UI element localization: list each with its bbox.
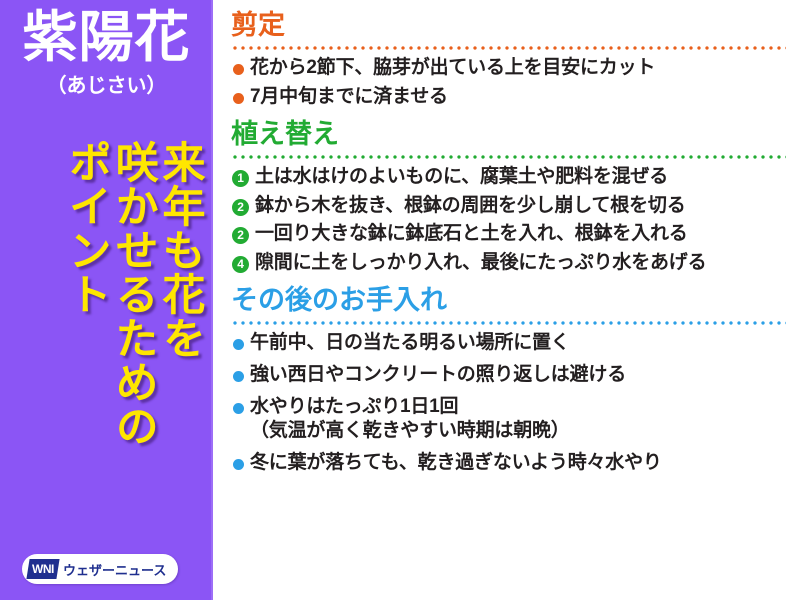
list-item: 4 隙間に土をしっかり入れ、最後にたっぷり水をあげる	[231, 251, 786, 275]
list-item-text: 花から2節下、脇芽が出ている上を目安にカット	[250, 56, 786, 80]
page-title: 紫陽花	[0, 8, 213, 67]
bullet-dot-icon	[233, 459, 244, 470]
list-item-text: 土は水はけのよいものに、腐葉土や肥料を混ぜる	[255, 165, 786, 189]
list-item: 1 土は水はけのよいものに、腐葉土や肥料を混ぜる	[231, 165, 786, 189]
bullet-dot-icon	[233, 339, 244, 350]
infographic-poster: 紫陽花 （あじさい） 来年も花を 咲かせるための ポイント WNI ウェザーニュ…	[0, 0, 800, 600]
item-list-pruning: 花から2節下、脇芽が出ている上を目安にカット 7月中旬までに済ませる	[231, 56, 786, 109]
sidebar-panel: 紫陽花 （あじさい） 来年も花を 咲かせるための ポイント WNI ウェザーニュ…	[0, 0, 213, 600]
section-heading-pruning: 剪定	[231, 10, 786, 42]
weathernews-logo: WNI ウェザーニュース	[22, 554, 178, 584]
list-item: 花から2節下、脇芽が出ている上を目安にカット	[231, 56, 786, 80]
section-pruning: 剪定 花から2節下、脇芽が出ている上を目安にカット 7月中旬までに済ませる	[231, 10, 786, 109]
list-item: 午前中、日の当たる明るい場所に置く	[231, 331, 786, 355]
list-item-text: 強い西日やコンクリートの照り返しは避ける	[250, 363, 786, 387]
list-item-text: 冬に葉が落ちても、乾き過ぎないよう時々水やり	[250, 451, 786, 475]
list-item-text: 隙間に土をしっかり入れ、最後にたっぷり水をあげる	[255, 251, 786, 275]
section-repotting: 植え替え 1 土は水はけのよいものに、腐葉土や肥料を混ぜる 2 鉢から木を抜き、…	[231, 119, 786, 276]
numbered-bullet-icon: 2	[232, 199, 249, 216]
list-item: 2 鉢から木を抜き、根鉢の周囲を少し崩して根を切る	[231, 194, 786, 218]
list-item-text-group: 水やりはたっぷり1日1回 （気温が高く乾きやすい時期は朝晩）	[250, 395, 786, 443]
list-item: 強い西日やコンクリートの照り返しは避ける	[231, 363, 786, 387]
numbered-bullet-icon: 4	[232, 256, 249, 273]
title-block: 紫陽花 （あじさい）	[0, 8, 213, 98]
list-item-text: 水やりはたっぷり1日1回	[250, 396, 458, 417]
list-item-text: 7月中旬までに済ませる	[250, 85, 786, 109]
bullet-dot-icon	[233, 403, 244, 414]
list-item-subline: （気温が高く乾きやすい時期は朝晩）	[250, 419, 786, 443]
list-item: 水やりはたっぷり1日1回 （気温が高く乾きやすい時期は朝晩）	[231, 395, 786, 443]
section-divider-aftercare	[233, 321, 786, 325]
list-item: 2 一回り大きな鉢に鉢底石と土を入れ、根鉢を入れる	[231, 222, 786, 246]
list-item: 冬に葉が落ちても、乾き過ぎないよう時々水やり	[231, 451, 786, 475]
section-divider-repotting	[233, 155, 786, 159]
weathernews-logo-label: ウェザーニュース	[63, 560, 166, 579]
bullet-dot-icon	[233, 93, 244, 104]
bullet-dot-icon	[233, 371, 244, 382]
wni-logo-icon: WNI	[26, 559, 59, 579]
page-title-reading: （あじさい）	[0, 69, 213, 98]
item-list-aftercare: 午前中、日の当たる明るい場所に置く 強い西日やコンクリートの照り返しは避ける 水…	[231, 331, 786, 475]
section-heading-aftercare: その後のお手入れ	[231, 285, 786, 317]
wni-logo-text: WNI	[32, 562, 54, 576]
headline-column-2: 咲かせるための	[110, 140, 154, 540]
content-area: 剪定 花から2節下、脇芽が出ている上を目安にカット 7月中旬までに済ませる 植え…	[213, 0, 800, 600]
list-item-text: 鉢から木を抜き、根鉢の周囲を少し崩して根を切る	[255, 194, 786, 218]
section-heading-repotting: 植え替え	[231, 119, 786, 151]
list-item-text: 一回り大きな鉢に鉢底石と土を入れ、根鉢を入れる	[255, 222, 786, 246]
numbered-bullet-icon: 2	[232, 227, 249, 244]
headline-column-1: 来年も花を	[157, 140, 201, 540]
item-list-repotting: 1 土は水はけのよいものに、腐葉土や肥料を混ぜる 2 鉢から木を抜き、根鉢の周囲…	[231, 165, 786, 276]
section-aftercare: その後のお手入れ 午前中、日の当たる明るい場所に置く 強い西日やコンクリートの照…	[231, 285, 786, 475]
list-item: 7月中旬までに済ませる	[231, 85, 786, 109]
headline-column-3: ポイント	[63, 140, 107, 540]
numbered-bullet-icon: 1	[232, 170, 249, 187]
list-item-text: 午前中、日の当たる明るい場所に置く	[250, 331, 786, 355]
vertical-headline: 来年も花を 咲かせるための ポイント	[0, 140, 213, 540]
bullet-dot-icon	[233, 64, 244, 75]
section-divider-pruning	[233, 46, 786, 50]
